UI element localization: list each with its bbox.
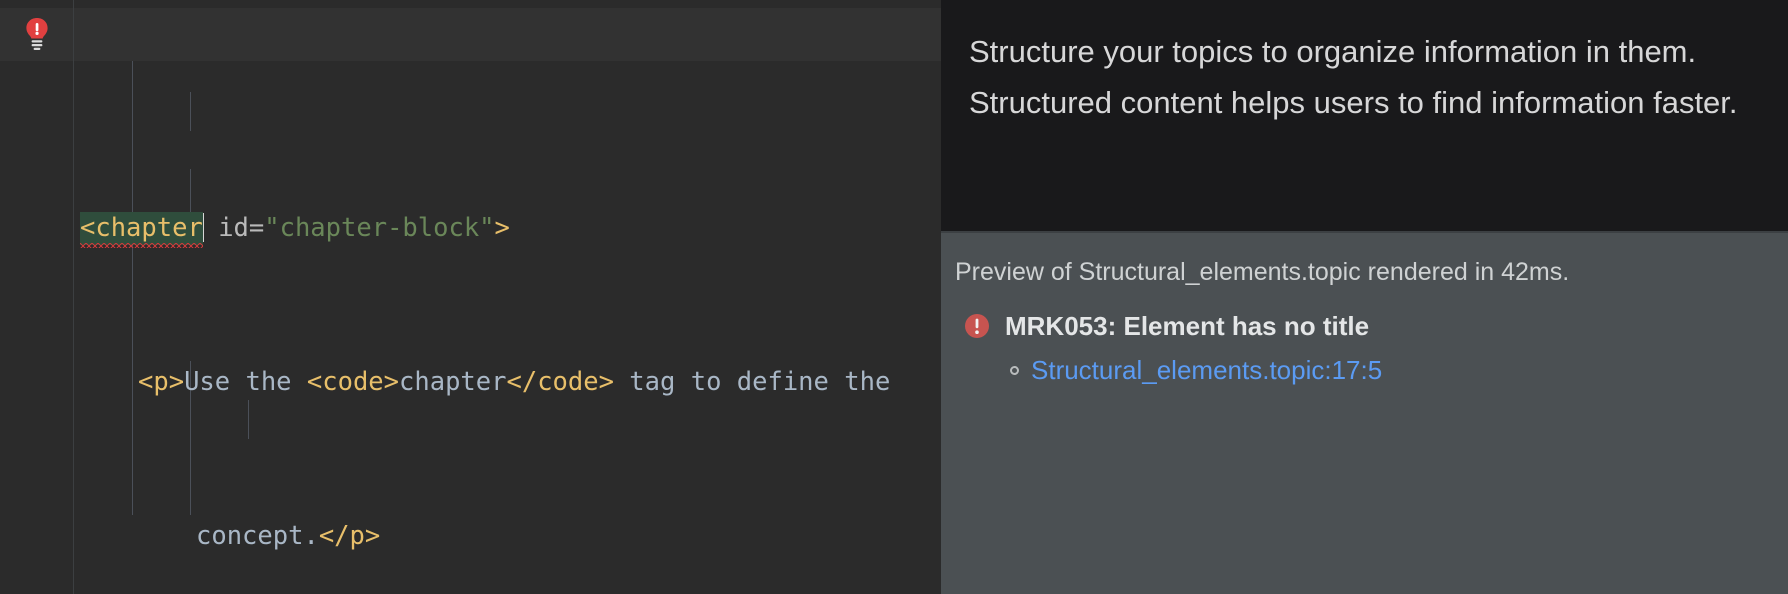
- ide-window: <chapter id="chapter-block"> <p>Use the …: [0, 0, 1788, 594]
- code-tag-close: >: [495, 213, 510, 243]
- gutter-background: [0, 0, 74, 594]
- code-tag: </code>: [506, 367, 613, 397]
- problem-location-link[interactable]: Structural_elements.topic:17:5: [1031, 355, 1382, 385]
- code-attr-value: "chapter-block": [264, 213, 494, 243]
- code-text: Use the: [184, 367, 307, 397]
- problem-title: MRK053: Element has no title: [1005, 311, 1369, 341]
- error-icon: [963, 312, 991, 340]
- code-tag: <code>: [307, 367, 399, 397]
- lightbulb-error-icon[interactable]: [23, 17, 51, 51]
- preview-status-text: Preview of Structural_elements.topic ren…: [941, 255, 1788, 289]
- preview-render-area[interactable]: Structure your topics to organize inform…: [941, 0, 1788, 231]
- code-lines: <chapter id="chapter-block"> <p>Use the …: [74, 0, 941, 594]
- editor-gutter[interactable]: [0, 0, 74, 594]
- preview-pane: Structure your topics to organize inform…: [941, 0, 1788, 594]
- code-text-area[interactable]: <chapter id="chapter-block"> <p>Use the …: [74, 0, 941, 594]
- code-editor-pane: <chapter id="chapter-block"> <p>Use the …: [0, 0, 941, 594]
- code-text: tag to define the: [614, 367, 890, 397]
- problem-entry[interactable]: MRK053: Element has no title: [941, 311, 1788, 341]
- preview-paragraph: Structure your topics to organize inform…: [969, 26, 1758, 128]
- code-line[interactable]: <p>Use the <code>chapter</code> tag to d…: [74, 363, 941, 402]
- error-squiggle: [80, 243, 203, 248]
- code-tag: <p>: [138, 367, 184, 397]
- problems-panel: Preview of Structural_elements.topic ren…: [941, 233, 1788, 594]
- code-space: [203, 213, 218, 243]
- selected-token[interactable]: <chapter: [80, 212, 203, 245]
- selected-token-text: <chapter: [80, 213, 203, 243]
- code-attr-name: id=: [218, 213, 264, 243]
- code-line[interactable]: concept.</p>: [74, 517, 941, 556]
- code-line[interactable]: <chapter id="chapter-block">: [74, 209, 941, 248]
- code-text: chapter: [399, 367, 506, 397]
- problem-location-row[interactable]: Structural_elements.topic:17:5: [941, 355, 1788, 385]
- code-tag: </p>: [319, 521, 380, 551]
- bullet-icon: [1010, 366, 1019, 375]
- code-text: concept.: [196, 521, 319, 551]
